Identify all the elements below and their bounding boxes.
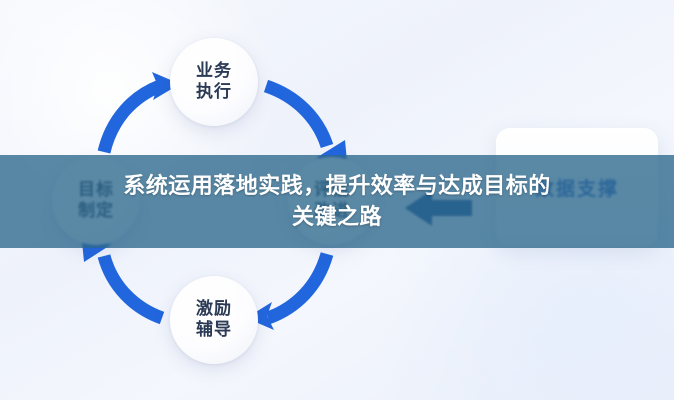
slide-canvas: 业务 执行 评估 改进 激励 辅导 目标 制定 数据支撑 系统运用落地实践，提升… (0, 0, 674, 400)
cycle-node-top-line1: 业务 (196, 61, 232, 82)
cycle-node-top[interactable]: 业务 执行 (170, 38, 258, 126)
title-overlay-band: 系统运用落地实践，提升效率与达成目标的 关键之路 (0, 155, 674, 248)
page-title-line2: 关键之路 (27, 202, 647, 232)
cycle-node-bottom-line2: 辅导 (196, 320, 232, 341)
page-title-line1: 系统运用落地实践，提升效率与达成目标的 (123, 173, 551, 198)
arrow-left-to-top (104, 72, 180, 152)
cycle-node-top-line2: 执行 (196, 82, 232, 103)
arrow-right-to-bottom (246, 254, 327, 330)
cycle-node-bottom-line1: 激励 (196, 299, 232, 320)
page-title: 系统运用落地实践，提升效率与达成目标的 关键之路 (27, 171, 647, 232)
cycle-node-bottom[interactable]: 激励 辅导 (170, 276, 258, 364)
